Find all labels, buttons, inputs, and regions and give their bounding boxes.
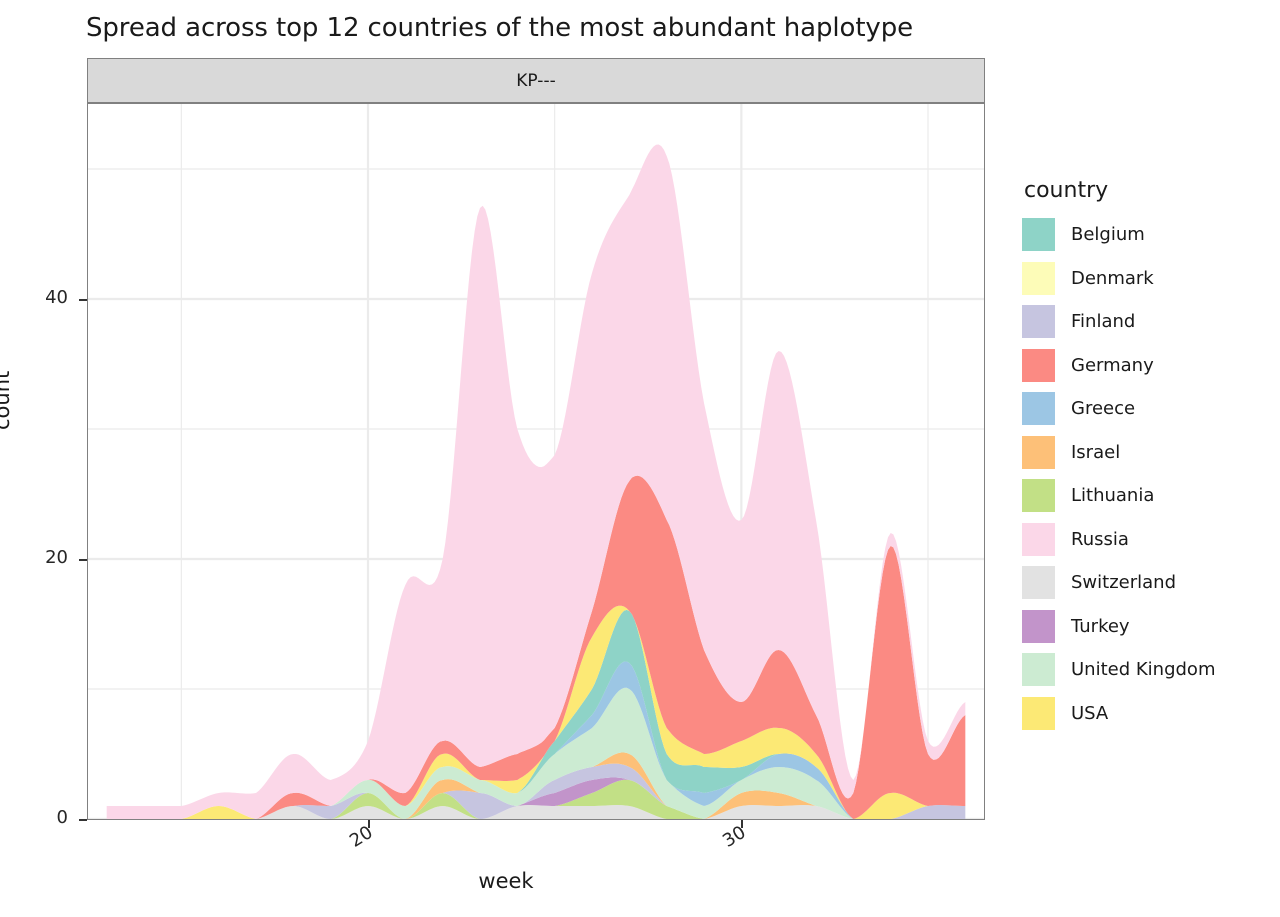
y-tick-label: 20	[0, 547, 68, 568]
y-tick-mark	[79, 299, 87, 301]
facet-strip-label: KP---	[516, 71, 555, 91]
stacked-areas	[107, 145, 966, 820]
legend-item-turkey[interactable]: Turkey	[1022, 605, 1215, 649]
legend-item-label: Denmark	[1071, 268, 1154, 289]
chart-root: Spread across top 12 countries of the mo…	[0, 0, 1280, 917]
area-series-russia	[107, 145, 966, 820]
legend-item-label: Finland	[1071, 311, 1135, 332]
legend-key-swatch	[1022, 392, 1055, 425]
legend-item-denmark[interactable]: Denmark	[1022, 257, 1215, 301]
x-tick-label: 20	[346, 822, 377, 852]
legend-key-swatch	[1022, 479, 1055, 512]
legend-key-swatch	[1022, 610, 1055, 643]
legend-item-switzerland[interactable]: Switzerland	[1022, 561, 1215, 605]
legend-key-swatch	[1022, 262, 1055, 295]
page-title: Spread across top 12 countries of the mo…	[86, 13, 913, 43]
legend-item-germany[interactable]: Germany	[1022, 344, 1215, 388]
legend-key-swatch	[1022, 436, 1055, 469]
legend-key-swatch	[1022, 305, 1055, 338]
y-tick-label: 40	[0, 287, 68, 308]
legend-item-usa[interactable]: USA	[1022, 692, 1215, 736]
legend-item-united-kingdom[interactable]: United Kingdom	[1022, 648, 1215, 692]
legend-item-israel[interactable]: Israel	[1022, 431, 1215, 475]
legend-item-label: USA	[1071, 703, 1108, 724]
legend-key-swatch	[1022, 218, 1055, 251]
y-tick-mark	[79, 819, 87, 821]
plot-panel	[87, 103, 985, 820]
legend-item-label: Belgium	[1071, 224, 1145, 245]
legend-key-swatch	[1022, 566, 1055, 599]
legend-key-swatch	[1022, 697, 1055, 730]
legend-item-label: Switzerland	[1071, 572, 1176, 593]
legend-key-swatch	[1022, 349, 1055, 382]
facet-strip: KP---	[87, 58, 985, 103]
legend-item-russia[interactable]: Russia	[1022, 518, 1215, 562]
y-tick-mark	[79, 559, 87, 561]
legend-item-label: Israel	[1071, 442, 1120, 463]
legend-item-lithuania[interactable]: Lithuania	[1022, 474, 1215, 518]
legend-item-label: Greece	[1071, 398, 1135, 419]
legend-title: country	[1024, 178, 1215, 203]
legend-item-label: United Kingdom	[1071, 659, 1215, 680]
legend-item-label: Lithuania	[1071, 485, 1154, 506]
plot-area	[88, 104, 984, 819]
legend: country BelgiumDenmarkFinlandGermanyGree…	[1022, 178, 1215, 735]
x-tick-label: 30	[719, 822, 750, 852]
x-axis-title: week	[0, 869, 1012, 893]
legend-item-finland[interactable]: Finland	[1022, 300, 1215, 344]
legend-item-greece[interactable]: Greece	[1022, 387, 1215, 431]
legend-item-label: Turkey	[1071, 616, 1130, 637]
legend-items: BelgiumDenmarkFinlandGermanyGreeceIsrael…	[1022, 213, 1215, 735]
legend-item-label: Russia	[1071, 529, 1129, 550]
y-axis-title: count	[0, 371, 14, 430]
y-tick-label: 0	[0, 807, 68, 828]
legend-key-swatch	[1022, 523, 1055, 556]
legend-item-label: Germany	[1071, 355, 1154, 376]
legend-item-belgium[interactable]: Belgium	[1022, 213, 1215, 257]
legend-key-swatch	[1022, 653, 1055, 686]
